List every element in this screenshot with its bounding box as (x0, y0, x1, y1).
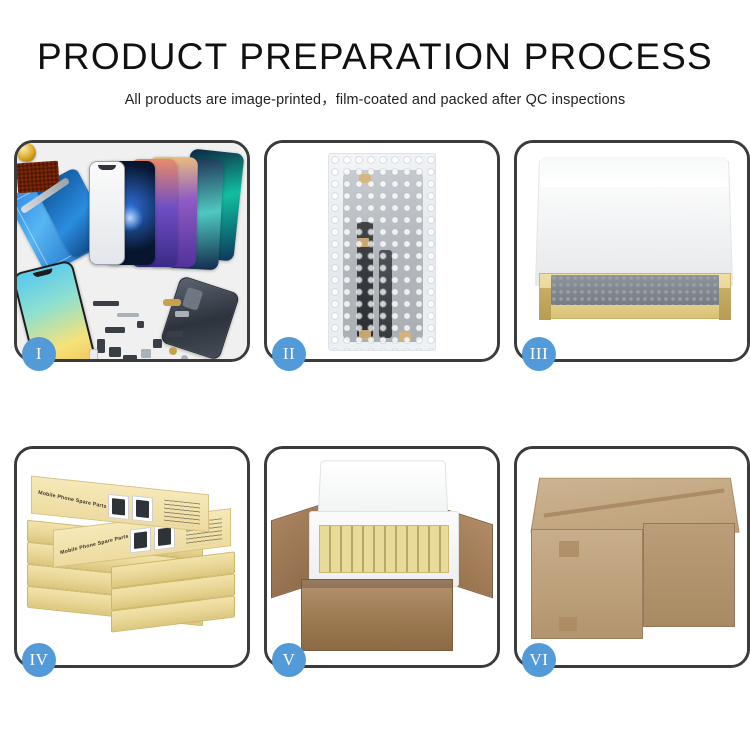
carton-front-icon (531, 529, 643, 639)
spare-part-icon (175, 311, 189, 317)
step-1-image (17, 143, 247, 359)
carton-tab-icon (559, 617, 577, 631)
retail-box-stack-icon: Mobile Phone Spare Parts Mobile Phone Sp… (27, 467, 243, 657)
step-4-image: Mobile Phone Spare Parts Mobile Phone Sp… (17, 449, 247, 665)
step-6-image (517, 449, 747, 665)
retail-box-label-photo (132, 495, 153, 522)
spare-part-icon (109, 347, 121, 357)
spare-part-icon (105, 327, 125, 333)
carton-body-icon (301, 579, 453, 651)
product-preparation-infographic: PRODUCT PREPARATION PROCESS All products… (0, 0, 750, 750)
carton-side-icon (643, 523, 735, 627)
step-panel-3: III (514, 140, 750, 362)
step-panel-1: I (14, 140, 250, 362)
spare-part-icon (181, 355, 188, 359)
header: PRODUCT PREPARATION PROCESS All products… (0, 36, 750, 109)
spare-part-icon (167, 331, 183, 337)
retail-box-label-title: Mobile Phone Spare Parts (60, 534, 129, 557)
step-3-image (517, 143, 747, 359)
step-panel-6: VI (514, 446, 750, 668)
retail-box-label-photo (108, 494, 129, 520)
spare-part-icon (89, 349, 98, 359)
step-badge-3: III (522, 337, 556, 371)
retail-box-label-lines (164, 500, 200, 528)
step-badge-5: V (272, 643, 306, 677)
retail-box-label-photo (130, 527, 151, 554)
step-badge-6: VI (522, 643, 556, 677)
step-badge-4: IV (22, 643, 56, 677)
spare-part-icon (123, 355, 137, 359)
foam-padding-icon (551, 275, 719, 305)
step-5-image (267, 449, 497, 665)
step-panel-2: II (264, 140, 500, 362)
bubble-texture-icon (329, 154, 435, 350)
step-2-image (267, 143, 497, 359)
spare-part-icon (137, 321, 144, 328)
page-subtitle: All products are image-printed，film-coat… (0, 88, 750, 109)
step-panel-4: Mobile Phone Spare Parts Mobile Phone Sp… (14, 446, 250, 668)
step-panel-5: V (264, 446, 500, 668)
spare-part-icon (141, 349, 151, 358)
process-steps-grid: I II (14, 140, 736, 668)
page-title: PRODUCT PREPARATION PROCESS (0, 36, 750, 79)
camera-module-icon (17, 143, 36, 162)
step-badge-1: I (22, 337, 56, 371)
tempered-glass-icon (89, 161, 125, 265)
bubble-wrap-package-icon (328, 153, 436, 351)
spare-part-icon (93, 301, 119, 306)
packed-boxes-rows-icon (320, 526, 448, 572)
retail-box-label-title: Mobile Phone Spare Parts (38, 490, 107, 510)
packed-boxes-icon (319, 525, 449, 573)
box-lid-flap-icon (541, 157, 727, 187)
spare-part-icon (163, 299, 181, 306)
spare-part-icon (169, 347, 177, 355)
step-badge-2: II (272, 337, 306, 371)
spare-part-icon (153, 339, 162, 348)
carton-tab-icon (559, 541, 579, 557)
spare-part-icon (97, 339, 105, 353)
spare-part-icon (117, 313, 139, 317)
phone-parts-scene (17, 143, 247, 359)
